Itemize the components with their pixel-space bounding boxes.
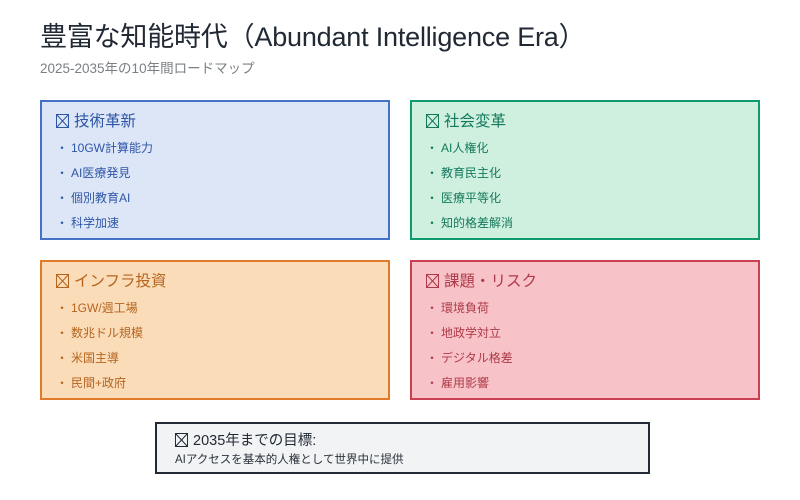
list-item[interactable]: ・知的格差解消 <box>426 211 744 236</box>
list-item-label: 10GW計算能力 <box>71 141 153 155</box>
bullet-icon: ・ <box>426 321 441 346</box>
card-infrastructure-investment[interactable]: インフラ投資 ・1GW/週工場 ・数兆ドル規模 ・米国主導 ・民間+政府 <box>40 260 390 400</box>
list-item-label: AI人権化 <box>441 141 488 155</box>
goal-callout-box: 2035年までの目標: AIアクセスを基本的人権として世界中に提供 <box>155 422 650 474</box>
list-item[interactable]: ・医療平等化 <box>426 186 744 211</box>
card-title-technology-innovation: 技術革新 <box>56 111 374 133</box>
list-item-label: AI医療発見 <box>71 166 130 180</box>
list-item[interactable]: ・民間+政府 <box>56 371 374 396</box>
bullet-icon: ・ <box>426 371 441 396</box>
tofu-box-icon <box>175 433 188 447</box>
list-item-label: 個別教育AI <box>71 191 130 205</box>
list-item-label: 米国主導 <box>71 351 119 365</box>
tofu-box-icon <box>426 274 439 288</box>
list-item-label: 科学加速 <box>71 216 119 230</box>
list-item[interactable]: ・地政学対立 <box>426 321 744 346</box>
card-title-label: 社会変革 <box>444 113 506 130</box>
list-item-label: 知的格差解消 <box>441 216 513 230</box>
list-item[interactable]: ・環境負荷 <box>426 296 744 321</box>
list-item-label: 1GW/週工場 <box>71 301 138 315</box>
list-item[interactable]: ・雇用影響 <box>426 371 744 396</box>
tofu-box-icon <box>56 274 69 288</box>
list-item[interactable]: ・教育民主化 <box>426 161 744 186</box>
card-title-infrastructure-investment: インフラ投資 <box>56 271 374 293</box>
card-title-social-transformation: 社会変革 <box>426 111 744 133</box>
list-item-label: 数兆ドル規模 <box>71 326 143 340</box>
bullet-icon: ・ <box>56 321 71 346</box>
list-item-label: 民間+政府 <box>71 376 126 390</box>
list-item-label: 雇用影響 <box>441 376 489 390</box>
card-technology-innovation[interactable]: 技術革新 ・10GW計算能力 ・AI医療発見 ・個別教育AI ・科学加速 <box>40 100 390 240</box>
list-item-label: 地政学対立 <box>441 326 501 340</box>
bullet-icon: ・ <box>426 296 441 321</box>
list-item-label: 教育民主化 <box>441 166 501 180</box>
card-item-list: ・10GW計算能力 ・AI医療発見 ・個別教育AI ・科学加速 <box>56 136 374 236</box>
bullet-icon: ・ <box>426 136 441 161</box>
list-item-label: 環境負荷 <box>441 301 489 315</box>
bullet-icon: ・ <box>426 346 441 371</box>
bullet-icon: ・ <box>56 211 71 236</box>
list-item[interactable]: ・10GW計算能力 <box>56 136 374 161</box>
card-title-label: 課題・リスク <box>444 273 537 290</box>
list-item[interactable]: ・1GW/週工場 <box>56 296 374 321</box>
card-item-list: ・AI人権化 ・教育民主化 ・医療平等化 ・知的格差解消 <box>426 136 744 236</box>
goal-callout-title: 2035年までの目標: <box>175 431 648 451</box>
tofu-box-icon <box>56 114 69 128</box>
bullet-icon: ・ <box>426 161 441 186</box>
bullet-icon: ・ <box>56 346 71 371</box>
card-title-label: 技術革新 <box>74 113 136 130</box>
card-social-transformation[interactable]: 社会変革 ・AI人権化 ・教育民主化 ・医療平等化 ・知的格差解消 <box>410 100 760 240</box>
roadmap-card-grid: 技術革新 ・10GW計算能力 ・AI医療発見 ・個別教育AI ・科学加速 社会変… <box>40 100 760 400</box>
list-item-label: デジタル格差 <box>441 351 513 365</box>
list-item[interactable]: ・個別教育AI <box>56 186 374 211</box>
card-title-label: インフラ投資 <box>74 273 167 290</box>
list-item[interactable]: ・米国主導 <box>56 346 374 371</box>
list-item[interactable]: ・AI医療発見 <box>56 161 374 186</box>
list-item[interactable]: ・数兆ドル規模 <box>56 321 374 346</box>
page-subtitle: 2025-2035年の10年間ロードマップ <box>40 60 760 78</box>
bullet-icon: ・ <box>56 136 71 161</box>
bullet-icon: ・ <box>426 186 441 211</box>
page-header: 豊富な知能時代（Abundant Intelligence Era） 2025-… <box>40 20 760 78</box>
card-item-list: ・環境負荷 ・地政学対立 ・デジタル格差 ・雇用影響 <box>426 296 744 396</box>
list-item-label: 医療平等化 <box>441 191 501 205</box>
card-challenges-risks[interactable]: 課題・リスク ・環境負荷 ・地政学対立 ・デジタル格差 ・雇用影響 <box>410 260 760 400</box>
tofu-box-icon <box>426 114 439 128</box>
list-item[interactable]: ・デジタル格差 <box>426 346 744 371</box>
list-item[interactable]: ・AI人権化 <box>426 136 744 161</box>
bullet-icon: ・ <box>56 186 71 211</box>
card-item-list: ・1GW/週工場 ・数兆ドル規模 ・米国主導 ・民間+政府 <box>56 296 374 396</box>
bullet-icon: ・ <box>56 296 71 321</box>
goal-callout-title-label: 2035年までの目標: <box>193 433 316 449</box>
card-title-challenges-risks: 課題・リスク <box>426 271 744 293</box>
page-title: 豊富な知能時代（Abundant Intelligence Era） <box>40 20 760 54</box>
bullet-icon: ・ <box>56 371 71 396</box>
bullet-icon: ・ <box>56 161 71 186</box>
goal-callout-subtitle: AIアクセスを基本的人権として世界中に提供 <box>175 452 648 469</box>
bullet-icon: ・ <box>426 211 441 236</box>
list-item[interactable]: ・科学加速 <box>56 211 374 236</box>
